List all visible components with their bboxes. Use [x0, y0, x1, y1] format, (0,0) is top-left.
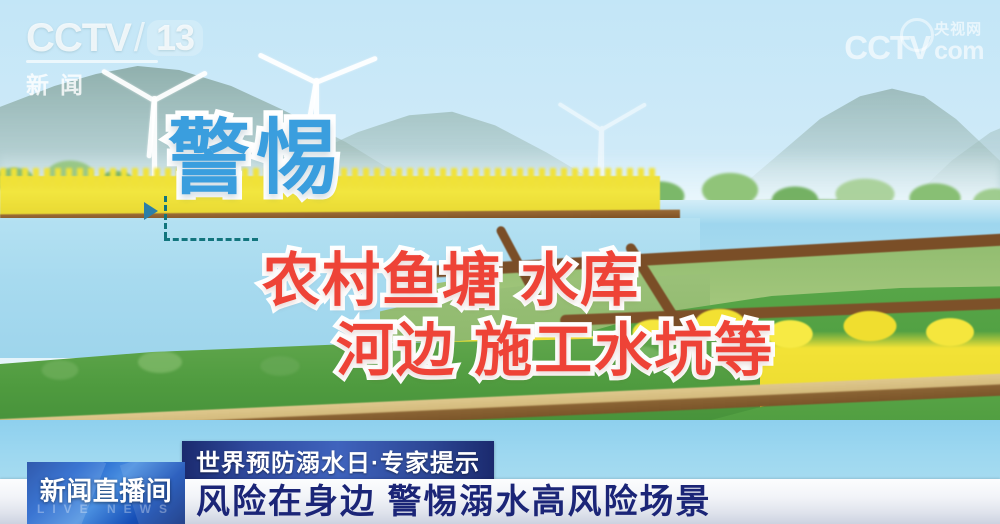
callout-line-1: 农村鱼塘 水库 [262, 252, 640, 310]
headline-text: 风险在身边 警惕溺水高风险场景 [196, 481, 711, 523]
watermark-ring-icon [900, 18, 934, 52]
broadcast-frame: CCTV / 13 新闻 CCTV 央视网 com 警惕 农村鱼塘 水库 河边 … [0, 0, 1000, 524]
channel-number: 13 [147, 20, 203, 56]
logo-slash-icon: / [134, 18, 144, 58]
program-name-en: LIVE NEWS [37, 502, 175, 516]
bracket-vertical-dash [164, 196, 167, 238]
watermark-right-block: 央视网 com [934, 22, 984, 64]
logo-underline [26, 60, 158, 63]
play-triangle-icon [144, 202, 158, 220]
topic-bar: 世界预防溺水日·专家提示 [182, 441, 494, 479]
cctv13-logo: CCTV / 13 新闻 [26, 18, 246, 90]
cctv13-logo-mark: CCTV / 13 [26, 18, 246, 58]
program-badge: 新闻直播间 LIVE NEWS [27, 462, 185, 524]
bracket-horizontal-dash [164, 238, 258, 241]
callout-line-2: 河边 施工水坑等 [336, 322, 774, 380]
watermark-wordmark: CCTV [844, 31, 930, 64]
keyword-headline: 警惕 [168, 118, 344, 200]
cctv-com-watermark: CCTV 央视网 com [844, 22, 984, 64]
channel-name-cn: 新闻 [26, 66, 246, 100]
cctv-wordmark: CCTV [26, 18, 131, 58]
watermark-tld-text: com [934, 38, 984, 64]
topic-label: 世界预防溺水日·专家提示 [196, 443, 480, 478]
watermark-cn-text: 央视网 [934, 22, 984, 38]
